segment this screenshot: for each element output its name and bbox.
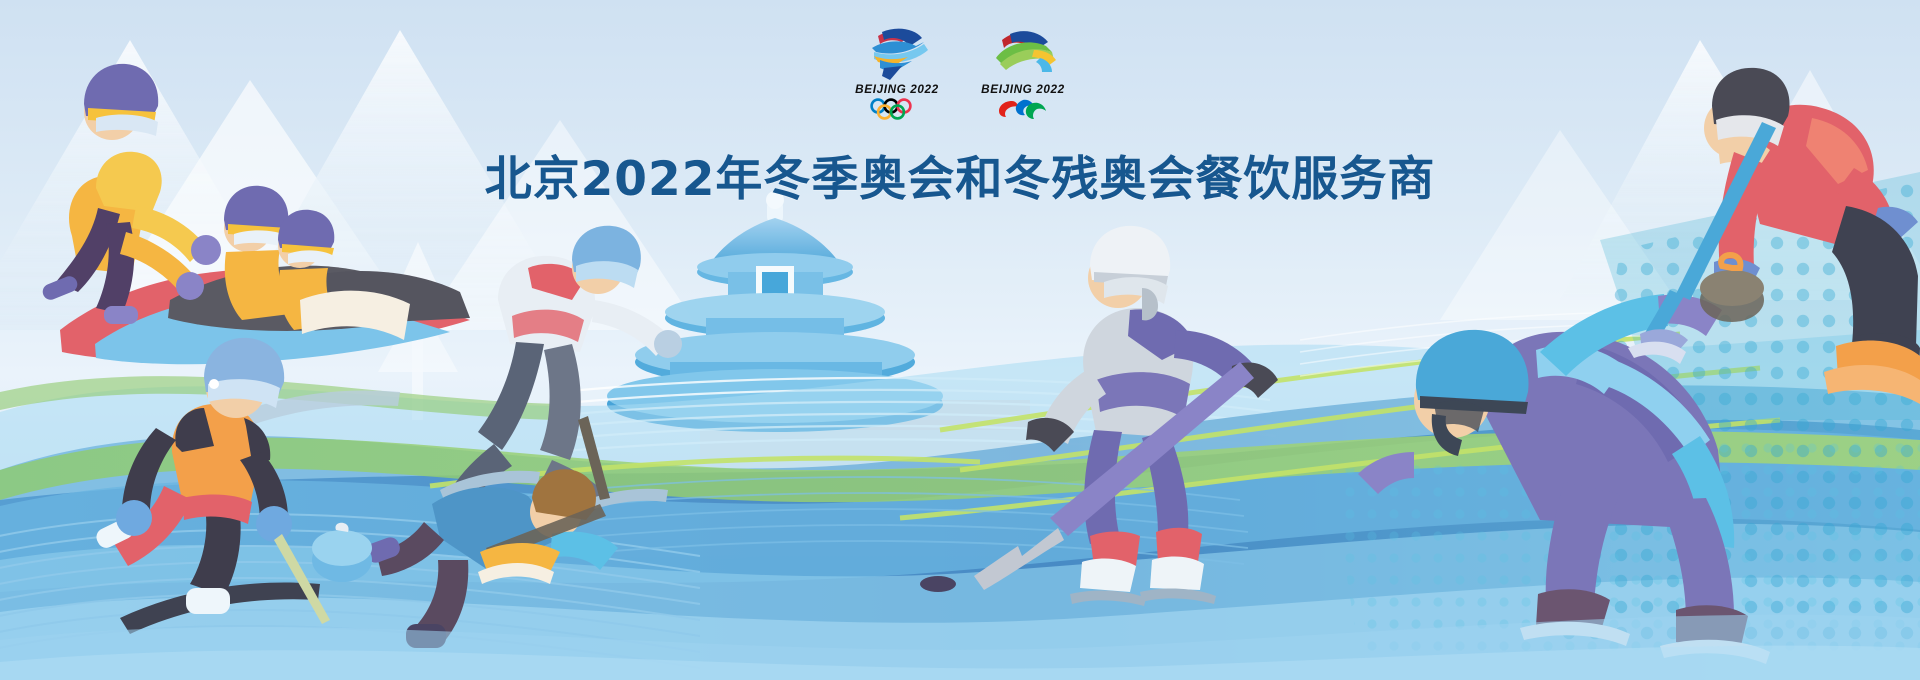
scene-illustration (0, 0, 1920, 680)
olympics-banner: BEIJING 2022 (0, 0, 1920, 680)
